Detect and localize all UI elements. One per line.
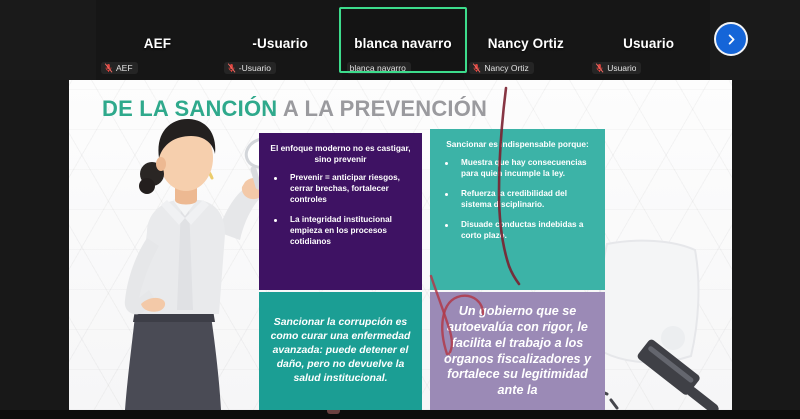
- participant-name: AEF: [144, 36, 171, 51]
- participant-name: Usuario: [623, 36, 674, 51]
- participant-tag-label: -Usuario: [239, 63, 271, 73]
- microphone-muted-icon: [104, 63, 113, 73]
- participant-tile-usuario[interactable]: Usuario Usuario: [587, 0, 710, 80]
- participant-name: Nancy Ortiz: [488, 36, 564, 51]
- microphone-muted-icon: [227, 63, 236, 73]
- slide-title-part-2: A LA PREVENCIÓN: [277, 96, 487, 121]
- mauve-quote-text: Un gobierno que se autoevalúa con rigor,…: [441, 304, 594, 399]
- participant-tile-nancy-ortiz[interactable]: Nancy Ortiz Nancy Ortiz: [464, 0, 587, 80]
- content-box-teal: Sancionar es indispensable porque: Muest…: [430, 129, 605, 290]
- box-teal-bullets: Muestra que hay consecuencias para quien…: [441, 158, 594, 242]
- participant-name-tag: -Usuario: [224, 62, 276, 74]
- participant-name: -Usuario: [252, 36, 308, 51]
- participant-tag-label: Nancy Ortiz: [484, 63, 528, 73]
- shared-slide[interactable]: DE LA SANCIÓN A LA PREVENCIÓN: [69, 80, 732, 410]
- participant-name-tag: Usuario: [592, 62, 641, 74]
- participant-tag-label: Usuario: [607, 63, 636, 73]
- chevron-right-icon: [725, 33, 738, 46]
- box-purple-bullets: Prevenir = anticipar riesgos, cerrar bre…: [270, 173, 411, 248]
- participant-name-tag: blanca navarro: [347, 62, 411, 74]
- participant-tile-blanca-navarro[interactable]: blanca navarro blanca navarro: [342, 0, 465, 80]
- bottom-bar: [0, 410, 800, 419]
- content-box-purple: El enfoque moderno no es castigar, sino …: [259, 133, 422, 290]
- screen-share-view: AEF AEF -Usuario: [0, 0, 800, 419]
- participant-tag-label: blanca navarro: [350, 63, 406, 73]
- box-teal-heading: Sancionar es indispensable porque:: [441, 139, 594, 150]
- next-page-button[interactable]: [714, 22, 748, 56]
- woman-with-magnifying-glass-illustration: [85, 114, 285, 410]
- bullet-item: La integridad institucional empieza en l…: [270, 215, 411, 248]
- bullet-item: Disuade conductas indebidas a corto plaz…: [441, 220, 594, 242]
- bullet-item: Refuerza la credibilidad del sistema dis…: [441, 189, 594, 211]
- content-box-teal-quote: Sancionar la corrupción es como curar un…: [259, 292, 422, 410]
- teal-quote-text: Sancionar la corrupción es como curar un…: [270, 316, 411, 387]
- participant-tile-aef[interactable]: AEF AEF: [96, 0, 219, 80]
- participant-filmstrip: AEF AEF -Usuario: [0, 0, 800, 80]
- bottom-indicator: [327, 410, 340, 414]
- bullet-item: Prevenir = anticipar riesgos, cerrar bre…: [270, 173, 411, 206]
- box-purple-heading: El enfoque moderno no es castigar, sino …: [270, 143, 411, 165]
- participant-name-tag: AEF: [101, 62, 138, 74]
- microphone-muted-icon: [472, 63, 481, 73]
- participant-tile-usuario-dash[interactable]: -Usuario -Usuario: [219, 0, 342, 80]
- participant-tiles: AEF AEF -Usuario: [96, 0, 710, 80]
- participant-name-tag: Nancy Ortiz: [469, 62, 533, 74]
- participant-tag-label: AEF: [116, 63, 133, 73]
- participant-name: blanca navarro: [354, 36, 451, 51]
- microphone-muted-icon: [595, 63, 604, 73]
- bullet-item: Muestra que hay consecuencias para quien…: [441, 158, 594, 180]
- content-box-mauve-quote: Un gobierno que se autoevalúa con rigor,…: [430, 292, 605, 410]
